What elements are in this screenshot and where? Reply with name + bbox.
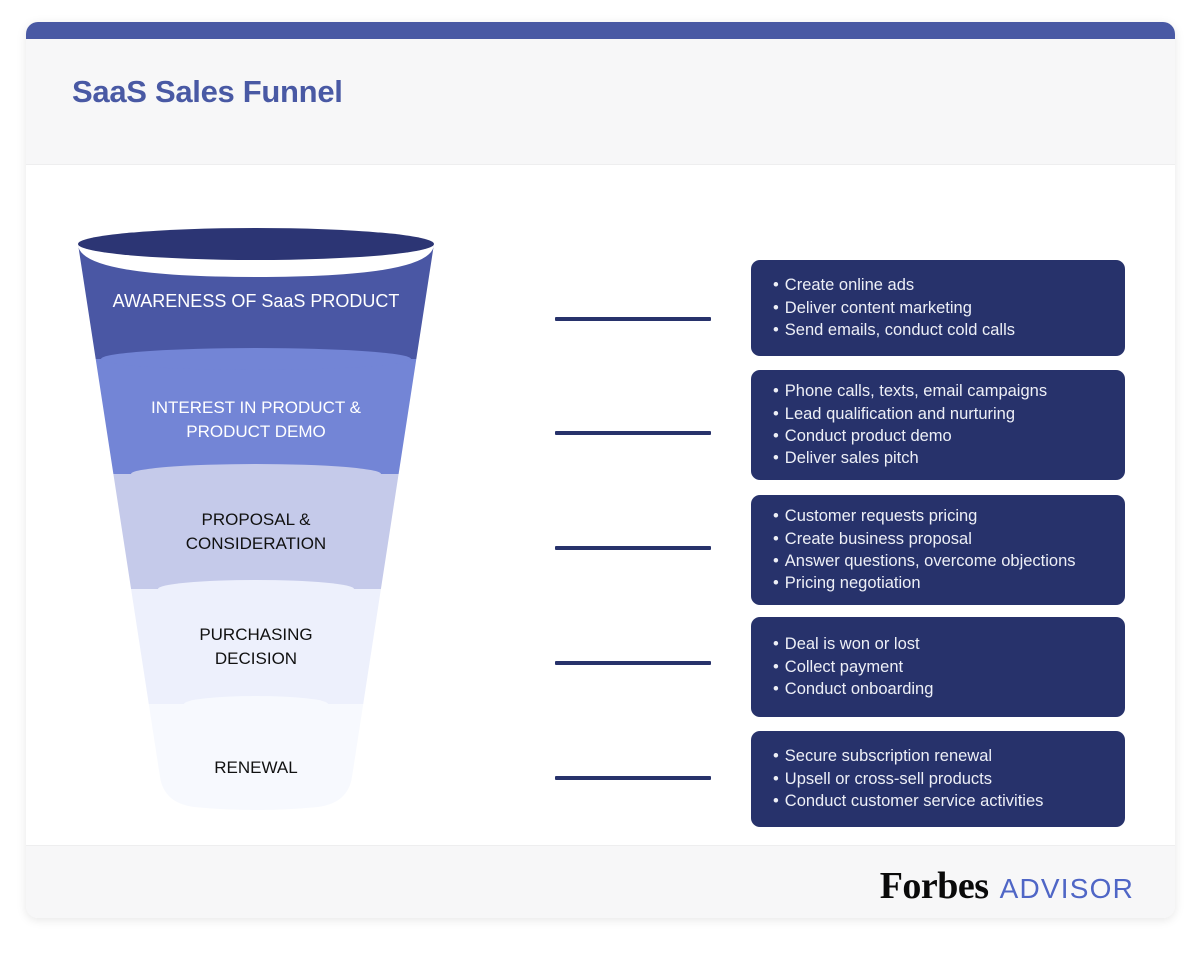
- list-item: Conduct customer service activities: [773, 790, 1103, 812]
- list-item: Create business proposal: [773, 528, 1103, 550]
- list-item: Upsell or cross-sell products: [773, 768, 1103, 790]
- connector-line-4: [555, 661, 711, 665]
- sales-funnel-graphic: AWARENESS OF SaaS PRODUCT INTEREST IN PR…: [48, 217, 568, 837]
- info-card-purchasing: Deal is won or lost Collect payment Cond…: [751, 617, 1125, 717]
- funnel-stage-3-label: PROPOSAL &: [202, 510, 312, 529]
- funnel-divider-3: [158, 580, 354, 598]
- list-item: Collect payment: [773, 656, 1103, 678]
- funnel-stage-2-label-line2: PRODUCT DEMO: [186, 422, 325, 441]
- funnel-stage-3-label-line2: CONSIDERATION: [186, 534, 326, 553]
- list-item: Phone calls, texts, email campaigns: [773, 380, 1103, 402]
- list-item: Conduct product demo: [773, 425, 1103, 447]
- funnel-stage-4-label: PURCHASING: [199, 625, 312, 644]
- list-item: Create online ads: [773, 274, 1103, 296]
- funnel-segment-3-fill: [48, 474, 568, 589]
- connector-line-2: [555, 431, 711, 435]
- funnel-rim-ellipse: [78, 228, 434, 260]
- page-title: SaaS Sales Funnel: [72, 74, 343, 110]
- list-item: Pricing negotiation: [773, 572, 1103, 594]
- logo-advisor-wordmark: ADVISOR: [1000, 873, 1134, 905]
- funnel-stage-1-label: AWARENESS OF SaaS PRODUCT: [113, 291, 400, 311]
- funnel-stage-4-label-line2: DECISION: [215, 649, 297, 668]
- info-card-proposal: Customer requests pricing Create busines…: [751, 495, 1125, 605]
- list-item: Send emails, conduct cold calls: [773, 319, 1103, 341]
- infographic-card: SaaS Sales Funnel: [26, 22, 1175, 918]
- list-item: Deliver sales pitch: [773, 447, 1103, 469]
- list-item: Secure subscription renewal: [773, 745, 1103, 767]
- card-body: AWARENESS OF SaaS PRODUCT INTEREST IN PR…: [26, 165, 1175, 845]
- connector-line-5: [555, 776, 711, 780]
- funnel-divider-1: [101, 348, 411, 370]
- info-card-renewal: Secure subscription renewal Upsell or cr…: [751, 731, 1125, 827]
- card-top-accent-bar: [26, 22, 1175, 39]
- list-item: Answer questions, overcome objections: [773, 550, 1103, 572]
- funnel-divider-4: [184, 696, 328, 712]
- list-item: Conduct onboarding: [773, 678, 1103, 700]
- forbes-advisor-logo: Forbes ADVISOR: [880, 864, 1134, 908]
- funnel-stage-5-label: RENEWAL: [214, 758, 297, 777]
- connector-line-1: [555, 317, 711, 321]
- connector-line-3: [555, 546, 711, 550]
- funnel-segment-4-fill: [48, 589, 568, 704]
- list-item: Deliver content marketing: [773, 297, 1103, 319]
- info-card-interest: Phone calls, texts, email campaigns Lead…: [751, 370, 1125, 480]
- card-footer: Forbes ADVISOR: [26, 845, 1175, 918]
- list-item: Deal is won or lost: [773, 633, 1103, 655]
- info-card-awareness: Create online ads Deliver content market…: [751, 260, 1125, 356]
- list-item: Lead qualification and nurturing: [773, 403, 1103, 425]
- list-item: Customer requests pricing: [773, 505, 1103, 527]
- funnel-segment-5-fill: [48, 704, 568, 837]
- funnel-stage-2-label: INTEREST IN PRODUCT &: [151, 398, 362, 417]
- funnel-divider-2: [131, 464, 381, 484]
- logo-forbes-wordmark: Forbes: [880, 864, 989, 908]
